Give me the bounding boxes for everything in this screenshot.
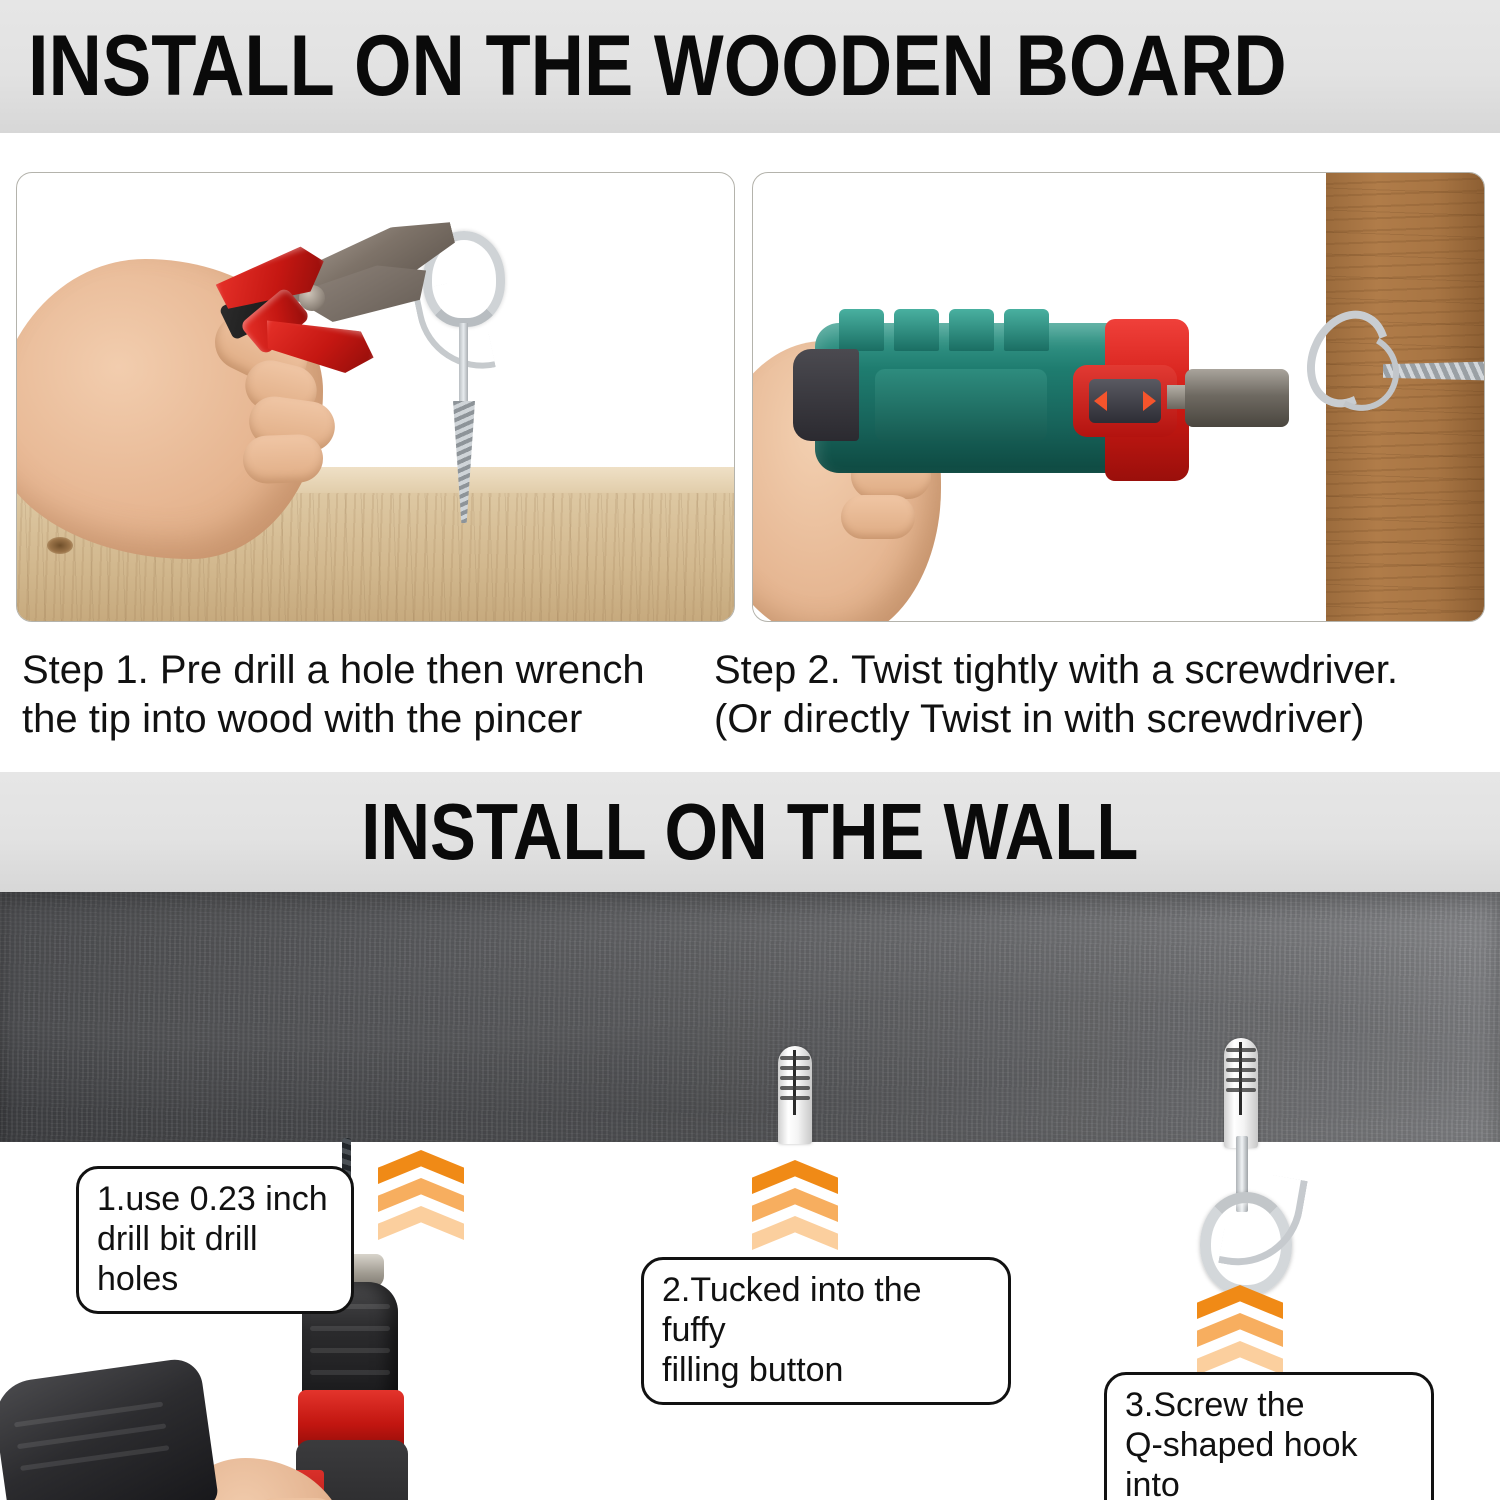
section-header-wall: INSTALL ON THE WALL	[0, 772, 1500, 892]
finger	[242, 434, 324, 485]
wood-knot	[47, 537, 73, 554]
hook-clip	[1218, 1168, 1308, 1275]
direction-arrows-icon	[1089, 379, 1161, 423]
screwdriver-chuck	[1185, 369, 1289, 427]
photo-panel-step-2	[752, 172, 1485, 622]
section-header-wooden-board: INSTALL ON THE WOODEN BOARD	[0, 0, 1500, 133]
vent-fin	[1004, 309, 1049, 351]
wall-anchor-plug	[1224, 1038, 1258, 1148]
heading-wall: INSTALL ON THE WALL	[361, 786, 1138, 878]
screwdriver-vents	[839, 309, 1049, 351]
concrete-wall-illustration	[0, 892, 1500, 1142]
screwdriver-grip-plate	[875, 369, 1047, 441]
direction-switch	[1073, 365, 1177, 437]
chevron-icon	[752, 1216, 838, 1250]
hook-shank	[459, 323, 468, 405]
anchor-ribs	[778, 1052, 812, 1111]
anchor-body	[1224, 1038, 1258, 1148]
instruction-page: INSTALL ON THE WOODEN BOARD	[0, 0, 1500, 1500]
q-hook-screw-illustration	[415, 231, 535, 531]
up-arrows-icon	[1197, 1285, 1283, 1385]
anchor-body	[778, 1046, 812, 1144]
hook-threads	[453, 401, 475, 523]
finger	[841, 495, 915, 539]
up-arrows-icon	[752, 1160, 838, 1260]
vent-fin	[839, 309, 884, 351]
photo-panel-step-1	[16, 172, 735, 622]
callout-drill-holes: 1.use 0.23 inch drill bit drill holes	[76, 1166, 354, 1314]
heading-wooden-board: INSTALL ON THE WOODEN BOARD	[28, 17, 1287, 116]
step-2-caption: Step 2. Twist tightly with a screwdriver…	[714, 646, 1494, 744]
anchor-ribs	[1224, 1044, 1258, 1110]
callout-insert-anchor: 2.Tucked into the fuffy filling button	[641, 1257, 1011, 1405]
vent-fin	[894, 309, 939, 351]
step-1-caption: Step 1. Pre drill a hole then wrench the…	[22, 646, 722, 744]
drill-battery-pack	[0, 1356, 219, 1500]
callout-screw-hook: 3.Screw the Q-shaped hook into the fuffy…	[1104, 1372, 1434, 1500]
chevron-icon	[1197, 1341, 1283, 1375]
q-hook-being-driven	[1283, 303, 1463, 463]
screwdriver-rear-cap	[793, 349, 859, 441]
wall-anchor-plug	[778, 1046, 812, 1144]
vent-fin	[949, 309, 994, 351]
